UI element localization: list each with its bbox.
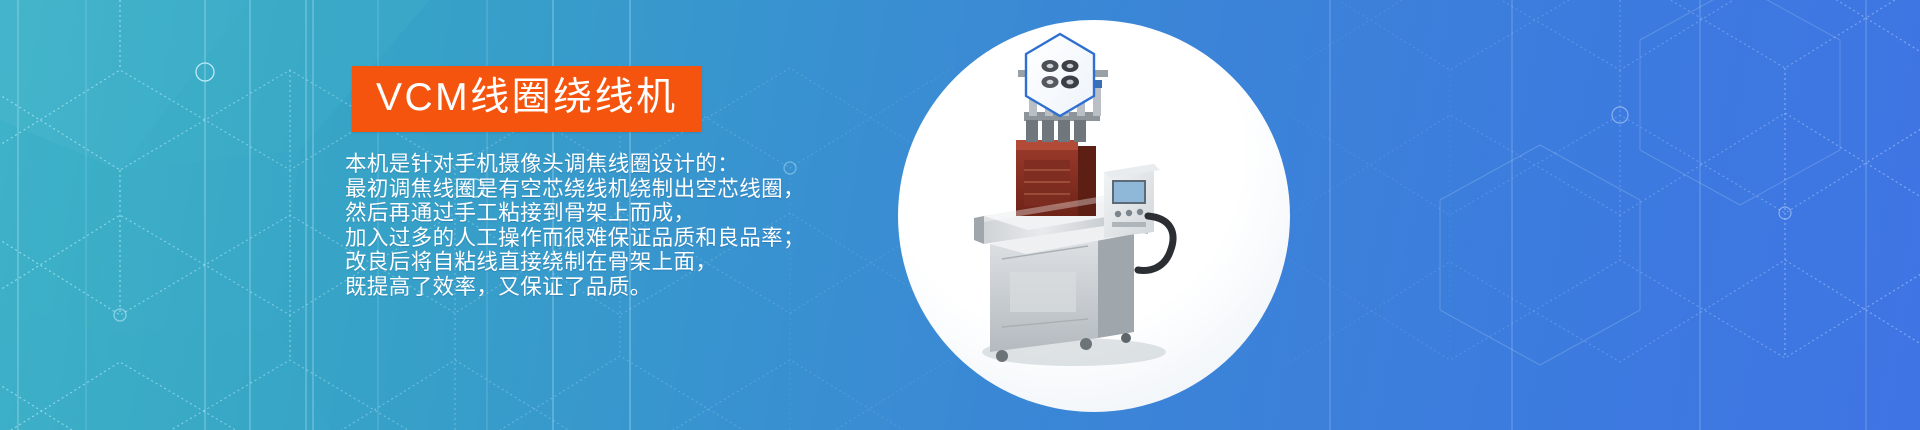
description-line: 加入过多的人工操作而很难保证品质和良品率； [345,226,885,251]
description-line: 本机是针对手机摄像头调焦线圈设计的： [345,152,885,177]
description-line: 既提高了效率，又保证了品质。 [345,275,885,300]
description-line: 最初调焦线圈是有空芯绕线机绕制出空芯线圈， [345,177,885,202]
page-title: VCM线圈绕线机 [376,75,678,120]
coil-samples-hexagon-badge [1022,32,1098,118]
product-description: 本机是针对手机摄像头调焦线圈设计的： 最初调焦线圈是有空芯绕线机绕制出空芯线圈，… [345,152,885,300]
banner-content: VCM线圈绕线机 本机是针对手机摄像头调焦线圈设计的： 最初调焦线圈是有空芯绕线… [0,0,900,430]
description-line: 改良后将自粘线直接绕制在骨架上面， [345,250,885,275]
product-title-box: VCM线圈绕线机 [352,66,702,132]
description-line: 然后再通过手工粘接到骨架上而成， [345,201,885,226]
promo-banner: VCM线圈绕线机 本机是针对手机摄像头调焦线圈设计的： 最初调焦线圈是有空芯绕线… [0,0,1920,430]
